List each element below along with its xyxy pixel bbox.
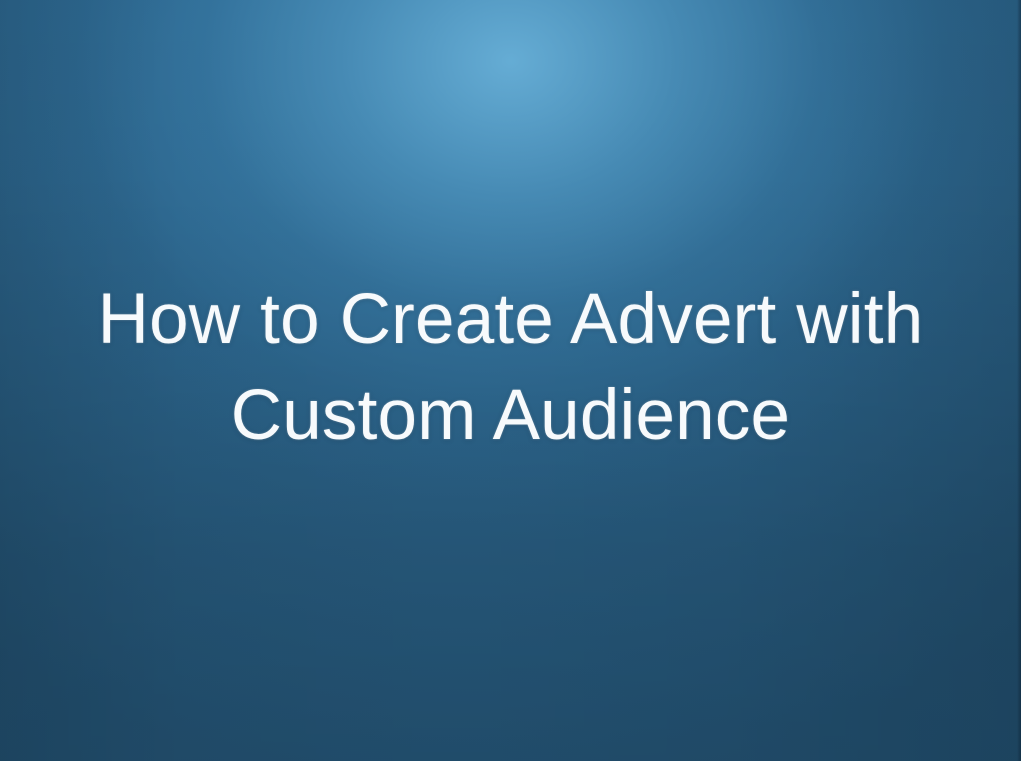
title-line-1: How to Create Advert with [0,272,1021,368]
background-highlight-glow [0,0,1021,563]
background-vignette [0,0,1021,761]
right-edge-shadow [1017,0,1021,761]
page-title: How to Create Advert with Custom Audienc… [0,272,1021,464]
title-slide: How to Create Advert with Custom Audienc… [0,0,1021,761]
title-line-2: Custom Audience [0,368,1021,464]
